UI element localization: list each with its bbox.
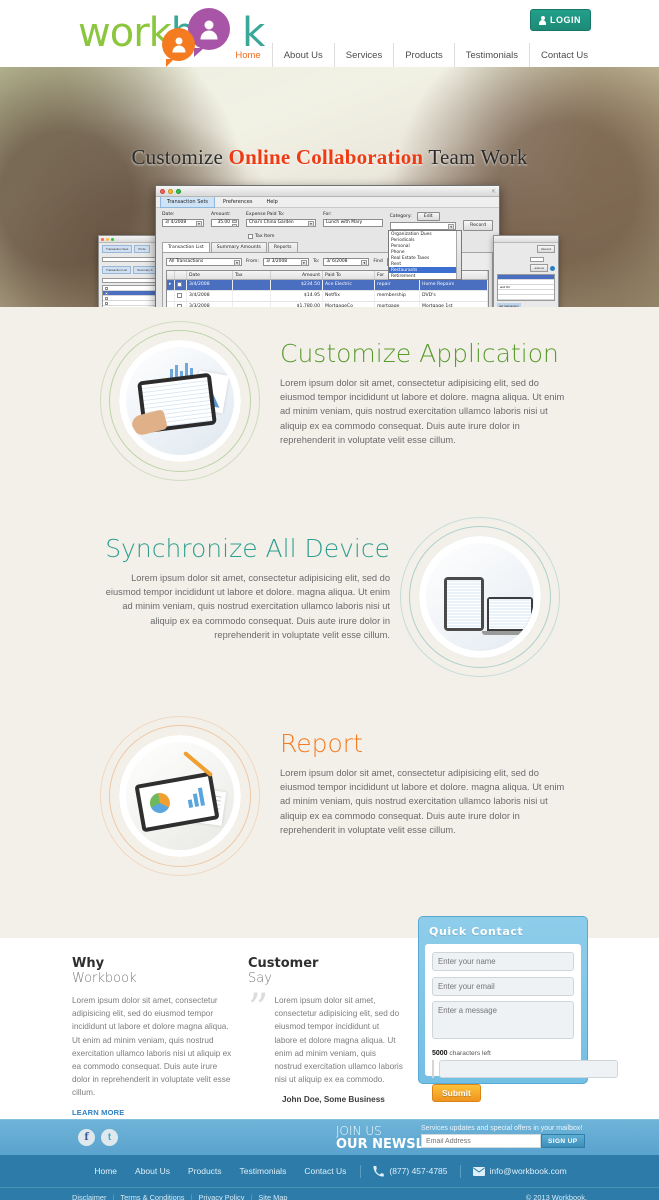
chevron-down-icon[interactable]: ▾: [301, 260, 307, 266]
feature-1-image: [126, 347, 234, 455]
transaction-filter-value: All Transactions: [169, 259, 203, 264]
cell-paid-to: Ace Electric: [323, 280, 375, 290]
transaction-filter-select[interactable]: All Transactions ▾: [166, 258, 242, 266]
newsletter-signup-button[interactable]: SIGN UP: [541, 1134, 585, 1148]
minimize-icon[interactable]: [168, 189, 173, 194]
find-label: Find: [373, 259, 382, 264]
date-input[interactable]: 3/ 4/2008 ▾: [162, 219, 204, 227]
date-value: 3/ 4/2008: [165, 220, 186, 225]
amount-input[interactable]: 35.00: [211, 219, 239, 227]
social-links[interactable]: f t: [78, 1129, 118, 1146]
feature-3-body: Lorem ipsum dolor sit amet, consectetur …: [280, 766, 570, 837]
window-titlebar: [99, 236, 163, 243]
main-navigation[interactable]: Home About Us Services Products Testimon…: [224, 43, 599, 67]
nav-item-services[interactable]: Services: [334, 43, 393, 67]
from-date-value: 3/ 3/2008: [266, 259, 287, 264]
captcha-row: merjjteo: [432, 1060, 574, 1078]
feature-3-graphic: [100, 716, 260, 876]
col-header-tax[interactable]: Tax: [233, 271, 271, 279]
col-header-paid-to[interactable]: Paid To: [323, 271, 375, 279]
record-button[interactable]: Record: [463, 220, 493, 231]
chevron-down-icon[interactable]: ▾: [196, 221, 202, 227]
tab-reports[interactable]: Reports: [268, 242, 298, 252]
footer-phone[interactable]: (877) 457-4785: [366, 1166, 454, 1177]
user-icon: [539, 16, 546, 25]
footer-link-contact-us[interactable]: Contact Us: [295, 1166, 355, 1176]
to-date-input[interactable]: 3/ 6/2008 ▾: [323, 258, 369, 266]
for-input[interactable]: Lunch with Mary: [323, 219, 383, 227]
amount-field-group: Amount: 35.00: [211, 212, 239, 227]
hand-icon: [130, 409, 168, 437]
date-field-group: Date: 3/ 4/2008 ▾: [162, 212, 204, 227]
from-date-input[interactable]: 3/ 3/2008 ▾: [263, 258, 309, 266]
legal-links[interactable]: Disclaimer | Terms & Conditions | Privac…: [72, 1193, 526, 1200]
date-label: Date:: [162, 212, 204, 217]
customer-attribution: John Doe, Some Business: [282, 1095, 403, 1104]
legal-link-disclaimer[interactable]: Disclaimer: [72, 1193, 113, 1200]
feature-3-text: Report Lorem ipsum dolor sit amet, conse…: [280, 729, 570, 837]
copyright-text: © 2013 Workbook.: [526, 1193, 587, 1200]
dropdown-scrollbar[interactable]: [456, 231, 461, 279]
contact-name-input[interactable]: [432, 952, 574, 971]
paid-to-field-group: Expense Paid To: Chai's China Garden ▾: [246, 212, 316, 227]
footer-link-home[interactable]: Home: [85, 1166, 126, 1176]
hero-banner: Customize Online Collaboration Team Work…: [0, 67, 659, 307]
login-button-label: LOGIN: [550, 15, 581, 25]
characters-left-counter: 5000 characters left: [432, 1050, 574, 1057]
paid-to-input[interactable]: Chai's China Garden ▾: [246, 219, 316, 227]
feature-1-graphic: [100, 321, 260, 481]
hero-title-part2: Team Work: [423, 145, 527, 169]
cell-for: repair: [375, 280, 420, 290]
cell-category: DVD's: [420, 291, 488, 301]
maximize-icon[interactable]: [176, 189, 181, 194]
contact-email-input[interactable]: [432, 977, 574, 996]
captcha-image: merjjteo: [432, 1060, 434, 1078]
cell-for: membership: [375, 291, 420, 301]
feature-1-heading: Customize Application: [280, 339, 570, 368]
amount-label: Amount:: [211, 212, 239, 217]
hero-title-part1: Customize: [131, 145, 228, 169]
entry-form-row: Date: 3/ 4/2008 ▾ Amount: 35.00: [162, 212, 493, 231]
logo-bubble-orange-icon: [162, 28, 195, 61]
footer-divider: [460, 1165, 461, 1178]
customer-heading-bold: Customer: [248, 956, 403, 971]
tablet-device-icon: [444, 577, 484, 631]
login-button[interactable]: LOGIN: [530, 9, 591, 31]
tax-item-label: Tax Item: [255, 234, 275, 239]
legal-link-terms[interactable]: Terms & Conditions: [114, 1193, 190, 1200]
transaction-app-window[interactable]: ⇱ Transaction Sets Preferences Help Date…: [155, 185, 500, 307]
col-header-amount[interactable]: Amount: [271, 271, 323, 279]
feature-1-body: Lorem ipsum dolor sit amet, consectetur …: [280, 376, 570, 447]
footer-link-about-us[interactable]: About Us: [126, 1166, 179, 1176]
quick-contact-title: Quick Contact: [425, 923, 581, 944]
newsletter-tagline: Services updates and special offers in y…: [421, 1125, 585, 1132]
nav-item-about-us[interactable]: About Us: [272, 43, 334, 67]
cell-amount: $234.50: [271, 280, 323, 290]
newsletter-signup: Services updates and special offers in y…: [421, 1125, 585, 1148]
devices-icon: [444, 577, 534, 631]
tab-summary-amounts[interactable]: Summary Amounts: [211, 242, 267, 252]
footer-email-address: info@workbook.com: [490, 1166, 567, 1176]
captcha-input[interactable]: [439, 1060, 618, 1078]
nav-item-home[interactable]: Home: [224, 43, 271, 67]
for-label: For:: [323, 212, 383, 217]
customer-say-block: Customer Say ” Lorem ipsum dolor sit ame…: [248, 956, 403, 1104]
characters-left-label: characters left: [449, 1050, 490, 1057]
laptop-device-icon: [487, 597, 533, 631]
features-section: Customize Application Lorem ipsum dolor …: [0, 307, 659, 938]
cell-paid-to: Netflix: [323, 291, 375, 301]
option-retirement[interactable]: Retirement: [389, 273, 461, 279]
pie-chart-icon: [148, 791, 171, 814]
for-value: Lunch with Mary: [326, 220, 362, 225]
menu-help[interactable]: Help: [260, 197, 283, 207]
contact-message-textarea[interactable]: [432, 1001, 574, 1039]
close-icon[interactable]: [160, 189, 165, 194]
resize-handle-icon[interactable]: ⇱: [492, 189, 496, 195]
why-body: Lorem ipsum dolor sit amet, consectetur …: [72, 994, 232, 1100]
newsletter-bar: f t JOIN US OUR NEWSLETTER Services upda…: [0, 1119, 659, 1155]
menu-preferences[interactable]: Preferences: [217, 197, 258, 207]
record-button-group: Record: [463, 220, 493, 231]
cell-date: 3/4/2008: [187, 291, 233, 301]
bar-chart-icon: [186, 787, 205, 808]
footer-link-testimonials[interactable]: Testimonials: [231, 1166, 296, 1176]
phone-icon: [373, 1166, 384, 1177]
footer-link-products[interactable]: Products: [179, 1166, 231, 1176]
footer-nav: Home About Us Products Testimonials Cont…: [0, 1155, 659, 1187]
amount-value: 35.00: [217, 220, 230, 225]
feature-1-text: Customize Application Lorem ipsum dolor …: [280, 339, 570, 447]
person-glyph-orange-icon: [172, 38, 185, 53]
submit-button[interactable]: Submit: [432, 1084, 481, 1102]
person-glyph-purple-icon: [201, 20, 218, 39]
tab-transaction-list[interactable]: Transaction List: [162, 242, 210, 252]
background-window-right: Record actions and Oil ted transaction: [493, 235, 559, 307]
quick-contact-form[interactable]: Quick Contact 5000 characters left merjj…: [418, 916, 588, 1084]
table-row[interactable]: 3/4/2008 $14.95 Netflix membership DVD's: [167, 291, 488, 302]
menu-transaction-sets[interactable]: Transaction Sets: [160, 196, 215, 208]
nav-item-contact-us[interactable]: Contact Us: [529, 43, 599, 67]
cell-date: 3/4/2008: [187, 280, 233, 290]
mail-icon: [473, 1167, 485, 1176]
chevron-down-icon[interactable]: ▾: [361, 260, 367, 266]
category-input[interactable]: ▾: [390, 222, 457, 230]
customer-heading-light: Say: [248, 971, 403, 986]
newsletter-email-input[interactable]: [421, 1134, 541, 1148]
cell-tax: [233, 291, 271, 301]
customer-quote-body: Lorem ipsum dolor sit amet, consectetur …: [274, 994, 403, 1086]
chevron-down-icon[interactable]: ▾: [308, 221, 314, 227]
feature-2-heading: Synchronize All Device: [100, 534, 390, 563]
legal-link-sitemap[interactable]: Site Map: [252, 1193, 293, 1200]
edit-button[interactable]: Edit: [417, 212, 440, 221]
app-window-titlebar: ⇱: [156, 186, 499, 197]
category-field-group: Category: Edit ▾: [390, 212, 457, 230]
quote-mark-icon: ”: [248, 994, 268, 1086]
feature-2-graphic: [400, 517, 560, 677]
paid-to-value: Chai's China Garden: [249, 220, 294, 225]
hero-title-highlight: Online Collaboration: [229, 145, 424, 169]
site-header: workbook LOGIN Home About Us Services Pr…: [0, 0, 659, 67]
why-heading-bold: Why: [72, 956, 232, 971]
to-label: To:: [313, 259, 319, 264]
page-root: workbook LOGIN Home About Us Services Pr…: [0, 0, 659, 1200]
footer-legal-bar: Disclaimer | Terms & Conditions | Privac…: [0, 1187, 659, 1200]
twitter-icon[interactable]: t: [101, 1129, 118, 1146]
paid-to-label: Expense Paid To:: [246, 212, 316, 217]
feature-2-image: [426, 543, 534, 651]
feature-2-body: Lorem ipsum dolor sit amet, consectetur …: [100, 571, 390, 642]
footer-phone-number: (877) 457-4785: [389, 1166, 447, 1176]
hero-title: Customize Online Collaboration Team Work: [0, 145, 659, 170]
window-titlebar: [494, 236, 558, 243]
col-header-date[interactable]: Date: [187, 271, 233, 279]
feature-2-text: Synchronize All Device Lorem ipsum dolor…: [100, 534, 390, 642]
nav-item-products[interactable]: Products: [393, 43, 454, 67]
cell-amount: $14.95: [271, 291, 323, 301]
for-field-group: For: Lunch with Mary: [323, 212, 383, 227]
from-label: From:: [246, 259, 259, 264]
feature-3-heading: Report: [280, 729, 570, 758]
cell-tax: [233, 280, 271, 290]
captcha-text: merjjteo: [432, 1064, 434, 1073]
why-workbook-block: Why Workbook Lorem ipsum dolor sit amet,…: [72, 956, 232, 1120]
quick-contact-fields: 5000 characters left merjjteo Submit: [425, 944, 581, 1076]
app-menubar[interactable]: Transaction Sets Preferences Help: [156, 197, 499, 208]
footer-email[interactable]: info@workbook.com: [466, 1166, 574, 1176]
category-label: Category:: [390, 214, 412, 219]
cell-category: Home Repairs: [420, 280, 488, 290]
legal-link-privacy[interactable]: Privacy Policy: [192, 1193, 250, 1200]
nav-item-testimonials[interactable]: Testimonials: [454, 43, 529, 67]
to-date-value: 3/ 6/2008: [326, 259, 347, 264]
logo-text-work: work: [78, 10, 171, 56]
characters-left-count: 5000: [432, 1050, 448, 1057]
chevron-down-icon[interactable]: ▾: [234, 260, 240, 266]
category-dropdown-list[interactable]: Organization Dues Periodicals Personal P…: [388, 230, 462, 280]
table-row[interactable]: ▸ 3/4/2008 $234.50 Ace Electric repair H…: [167, 280, 488, 291]
feature-3-image: [126, 742, 234, 850]
why-heading-light: Workbook: [72, 971, 232, 986]
footer-divider: [360, 1165, 361, 1178]
learn-more-link[interactable]: LEARN MORE: [72, 1108, 124, 1117]
spinner-icon[interactable]: [232, 220, 237, 227]
facebook-icon[interactable]: f: [78, 1129, 95, 1146]
tax-item-checkbox[interactable]: [248, 234, 253, 239]
